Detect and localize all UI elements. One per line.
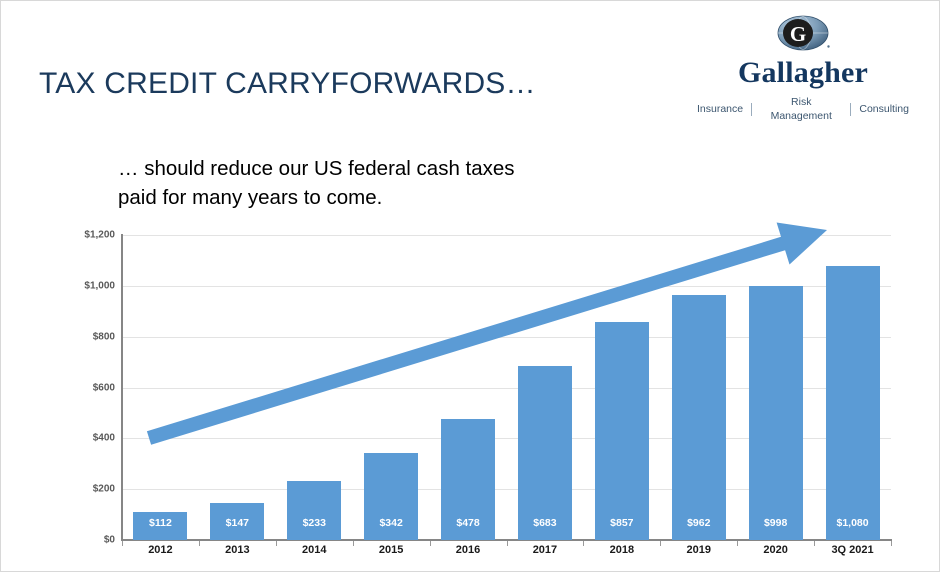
bar [672,295,726,540]
bar-value-label: $998 [736,517,816,529]
x-axis-tick-mark [737,541,738,546]
y-axis-tick-label: $800 [67,331,115,342]
bar-value-label: $342 [351,517,431,529]
x-axis-tick-label: 3Q 2021 [808,544,898,556]
bar [287,481,341,540]
bar-value-label: $962 [659,517,739,529]
x-axis-tick-mark [583,541,584,546]
bar-value-label: $857 [582,517,662,529]
bar [518,366,572,540]
x-axis-tick-mark [353,541,354,546]
y-axis-tick-label: $0 [67,535,115,546]
y-axis-tick-label: $400 [67,433,115,444]
bar [595,322,649,540]
bar-value-label: $112 [120,517,200,529]
x-axis-tick-mark [660,541,661,546]
y-axis-line [121,234,123,541]
bar-value-label: $1,080 [813,517,893,529]
bar-value-label: $683 [505,517,585,529]
slide: G Gallagher Insurance Risk Management Co… [0,0,940,572]
x-axis-tick-mark [430,541,431,546]
y-axis-tick-labels: $0$200$400$600$800$1,000$1,200 [63,235,115,540]
x-axis-tick-mark [507,541,508,546]
x-axis-tick-mark [891,541,892,546]
x-axis-tick-mark [276,541,277,546]
y-axis-tick-label: $1,000 [67,280,115,291]
gridline [122,235,891,236]
bar-value-label: $147 [197,517,277,529]
bar-value-label: $233 [274,517,354,529]
bar [749,286,803,540]
bar-chart: $0$200$400$600$800$1,000$1,200 $112$147$… [1,1,940,573]
y-axis-tick-label: $600 [67,382,115,393]
bar [826,266,880,541]
bar-value-label: $478 [428,517,508,529]
x-axis-tick-mark [122,541,123,546]
y-axis-tick-label: $200 [67,484,115,495]
x-axis-tick-mark [814,541,815,546]
x-axis-tick-mark [199,541,200,546]
y-axis-tick-label: $1,200 [67,230,115,241]
